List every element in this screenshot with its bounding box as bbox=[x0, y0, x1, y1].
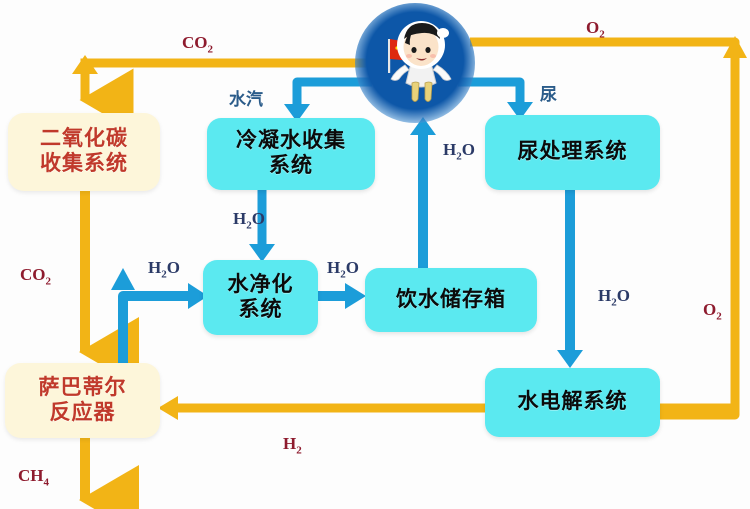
label-water-vapour: 水汽 bbox=[229, 85, 263, 110]
node-drinking-water-tank-label: 饮水储存箱 bbox=[396, 288, 506, 313]
label-h2-return-text: H bbox=[283, 434, 296, 453]
flow-drinking-water-to-crew bbox=[410, 117, 436, 268]
label-h2-return-sub: 2 bbox=[296, 444, 302, 456]
label-h2o-drink-tail: O bbox=[462, 140, 475, 159]
label-h2o-condensate-text: H bbox=[233, 209, 246, 228]
label-o2-top-sub: 2 bbox=[599, 28, 605, 40]
label-co2-left-text: CO bbox=[20, 265, 46, 284]
label-co2-left: CO2 bbox=[20, 265, 51, 287]
node-sabatier-reactor-label: 萨巴蒂尔 反应器 bbox=[39, 376, 127, 426]
label-h2o-sabatier-tail: O bbox=[167, 258, 180, 277]
node-water-purification[interactable]: 水净化 系统 bbox=[203, 260, 318, 335]
label-h2o-electrolysis: H2O bbox=[598, 286, 630, 308]
node-drinking-water-tank[interactable]: 饮水储存箱 bbox=[365, 268, 537, 332]
label-co2-top-sub: 2 bbox=[208, 43, 214, 55]
node-co2-collection[interactable]: 二氧化碳 收集系统 bbox=[8, 113, 160, 191]
flow-purified-to-tank bbox=[318, 283, 366, 309]
label-o2-right-text: O bbox=[703, 300, 716, 319]
label-h2-return: H2 bbox=[283, 434, 302, 456]
node-condensate-collection-label: 冷凝水收集 系统 bbox=[236, 129, 346, 179]
astronaut-illustration bbox=[355, 3, 475, 123]
label-co2-left-sub: 2 bbox=[46, 275, 52, 287]
label-o2-top-text: O bbox=[586, 18, 599, 37]
label-h2o-electrolysis-text: H bbox=[598, 286, 611, 305]
label-h2o-purified: H2O bbox=[327, 258, 359, 280]
label-ch4-out-text: CH bbox=[18, 466, 44, 485]
astronaut-avatar bbox=[355, 3, 475, 123]
label-co2-top-text: CO bbox=[182, 33, 208, 52]
label-h2o-condensate-tail: O bbox=[252, 209, 265, 228]
node-water-electrolysis[interactable]: 水电解系统 bbox=[485, 368, 660, 437]
flow-sabatier-water-to-purification bbox=[111, 268, 208, 363]
label-co2-top: CO2 bbox=[182, 33, 213, 55]
label-h2o-drink-text: H bbox=[443, 140, 456, 159]
label-ch4-out: CH4 bbox=[18, 466, 49, 488]
flow-urine-water-to-electrolysis bbox=[557, 190, 583, 368]
label-h2o-electrolysis-tail: O bbox=[617, 286, 630, 305]
label-h2o-sabatier-text: H bbox=[148, 258, 161, 277]
label-h2o-drink: H2O bbox=[443, 140, 475, 162]
node-water-electrolysis-label: 水电解系统 bbox=[518, 390, 628, 415]
label-h2o-condensate: H2O bbox=[233, 209, 265, 231]
node-sabatier-reactor[interactable]: 萨巴蒂尔 反应器 bbox=[5, 363, 160, 438]
node-urine-treatment-label: 尿处理系统 bbox=[518, 140, 628, 165]
label-ch4-out-sub: 4 bbox=[44, 476, 50, 488]
node-urine-treatment[interactable]: 尿处理系统 bbox=[485, 115, 660, 190]
diagram-canvas: 二氧化碳 收集系统 萨巴蒂尔 反应器 冷凝水收集 系统 水净化 系统 饮水储存箱… bbox=[0, 0, 750, 509]
node-water-purification-label: 水净化 系统 bbox=[228, 273, 294, 323]
label-h2o-purified-text: H bbox=[327, 258, 340, 277]
label-o2-right-sub: 2 bbox=[716, 310, 722, 322]
node-condensate-collection[interactable]: 冷凝水收集 系统 bbox=[207, 118, 375, 190]
flow-o2-to-crew bbox=[470, 36, 747, 415]
label-urine: 尿 bbox=[540, 80, 557, 105]
node-co2-collection-label: 二氧化碳 收集系统 bbox=[40, 127, 128, 177]
astronaut-helmet bbox=[397, 21, 449, 69]
label-o2-top: O2 bbox=[586, 18, 605, 40]
label-h2o-purified-tail: O bbox=[346, 258, 359, 277]
label-h2o-sabatier: H2O bbox=[148, 258, 180, 280]
label-o2-right: O2 bbox=[703, 300, 722, 322]
